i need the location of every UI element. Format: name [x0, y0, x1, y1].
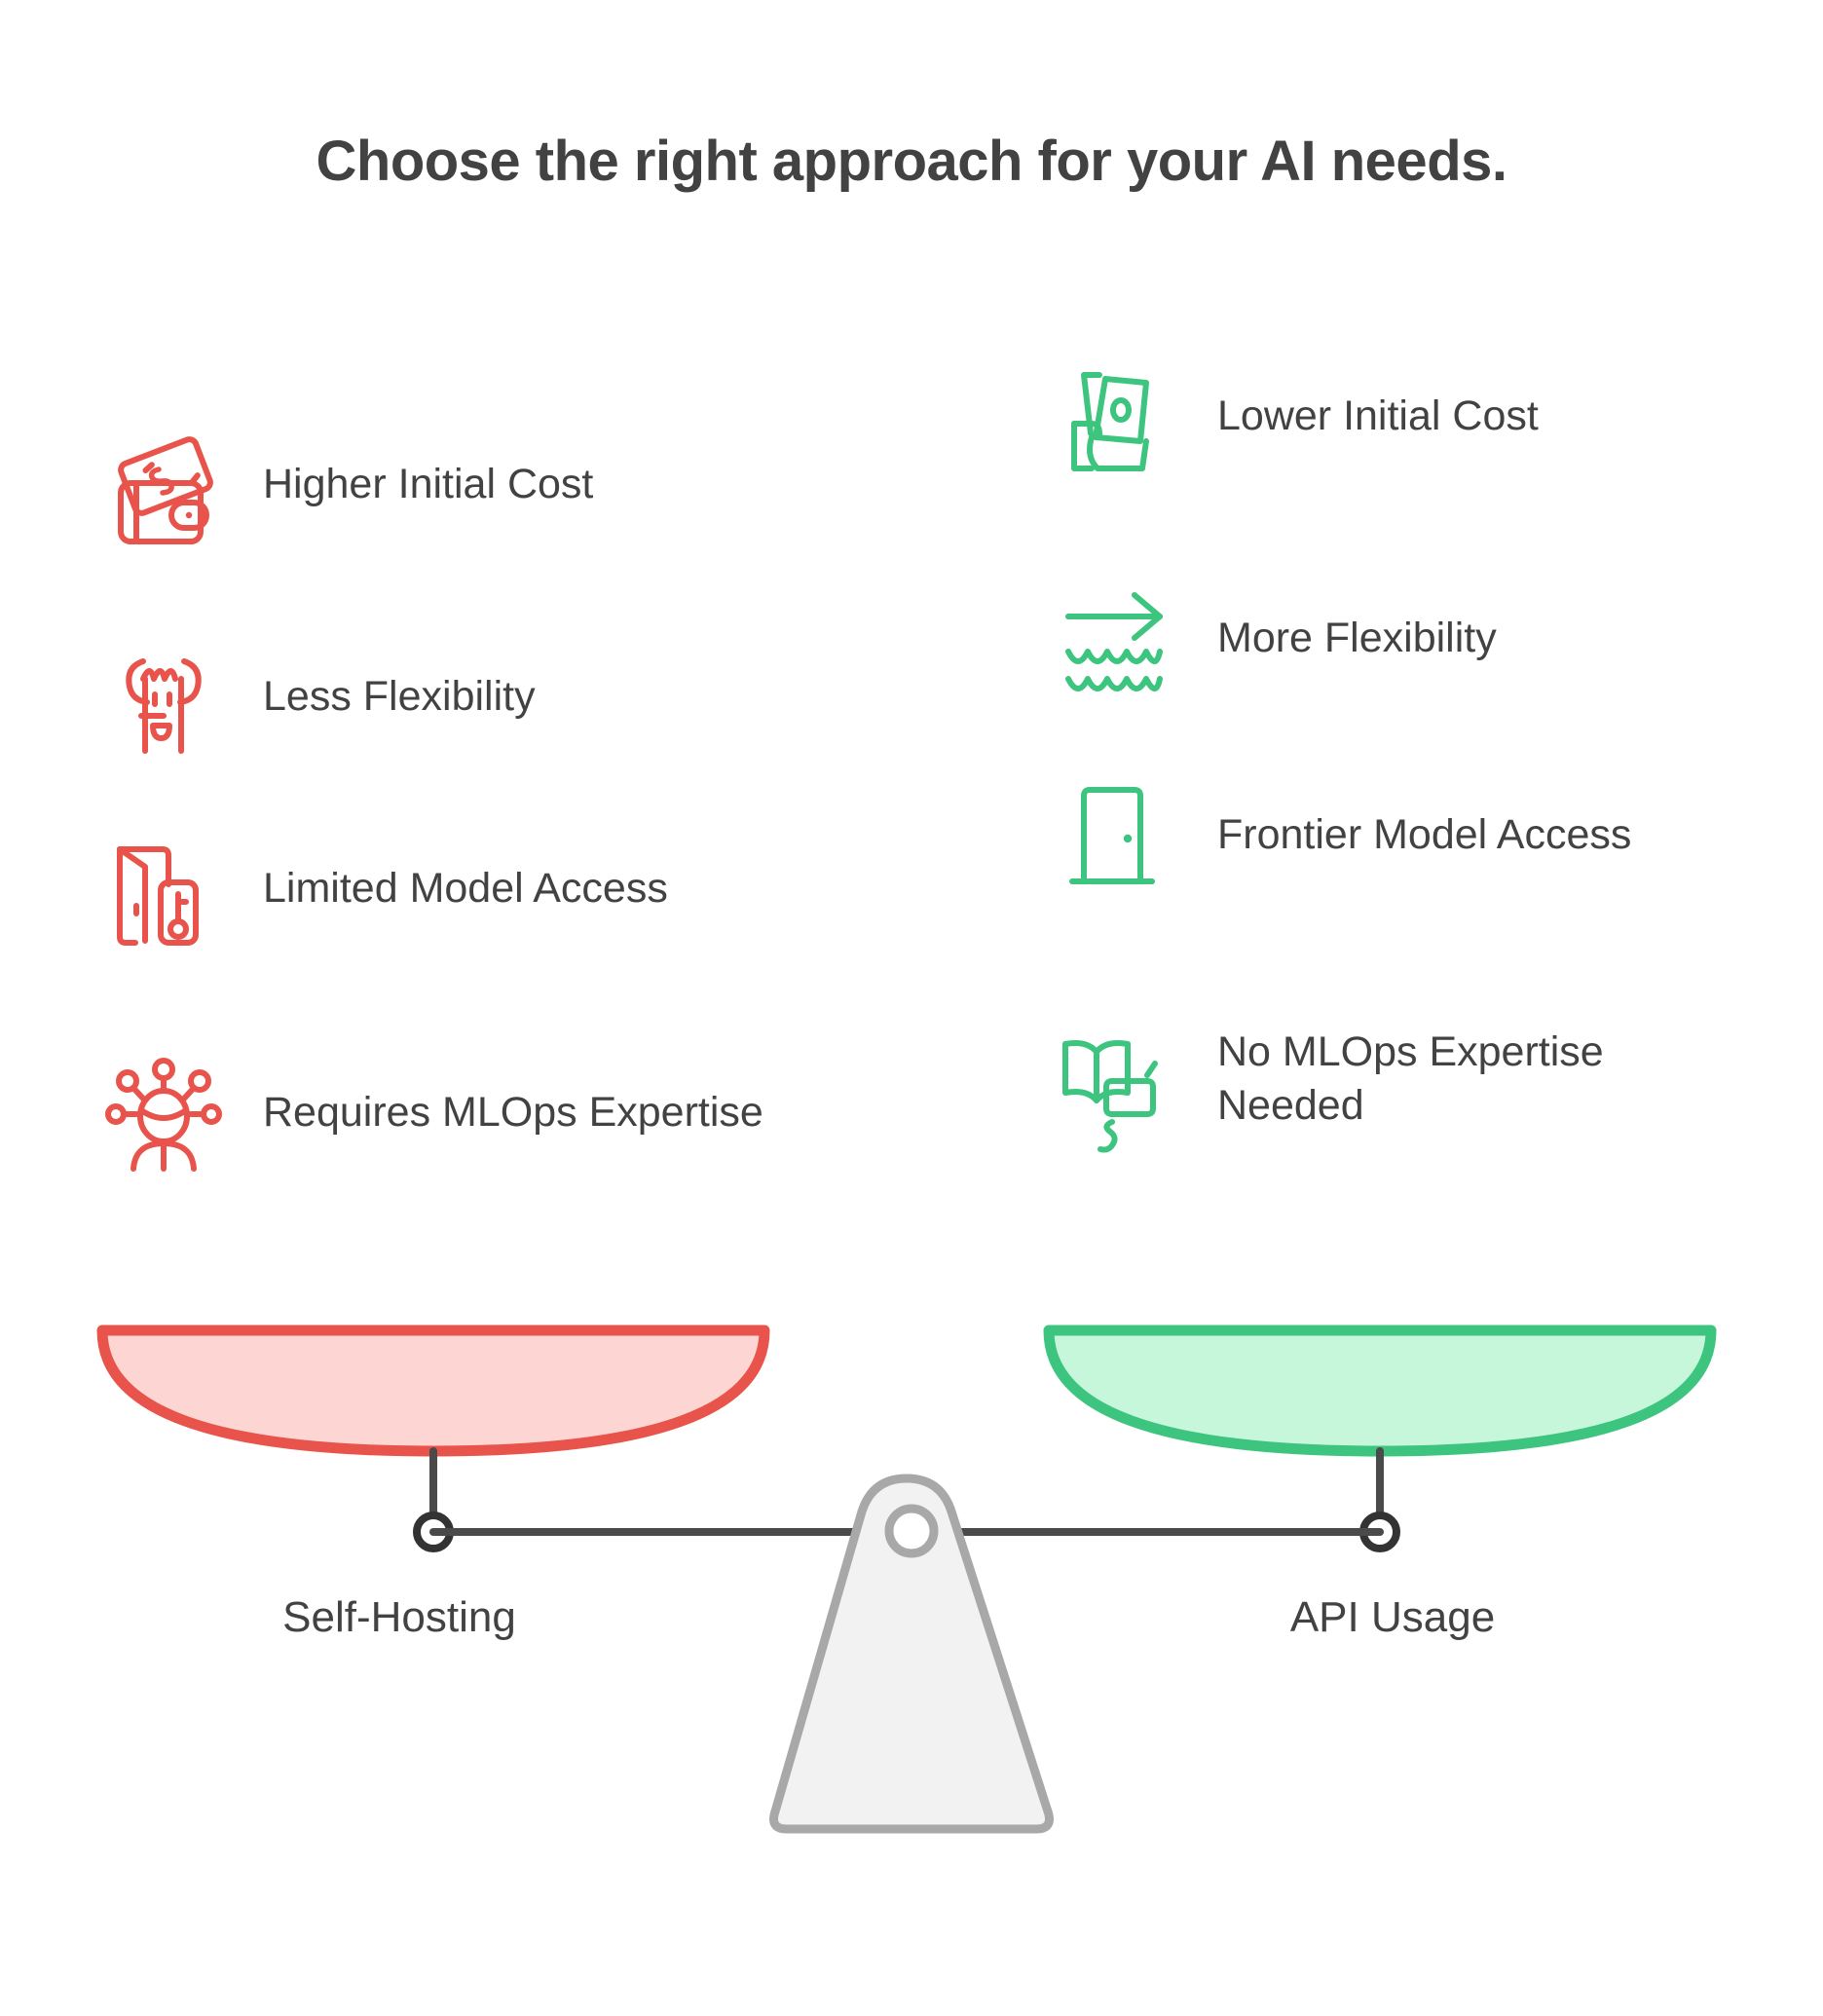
feature-item-more-flexibility: More Flexibility	[1052, 573, 1497, 705]
stiff-figure-icon	[97, 631, 230, 764]
pan-label-api-usage: API Usage	[1052, 1593, 1733, 1642]
scale-pan-right	[1049, 1330, 1711, 1451]
page-title: Choose the right approach for your AI ne…	[0, 129, 1823, 194]
feature-item-requires-mlops-expertise: Requires MLOps Expertise	[97, 1047, 763, 1179]
feature-label: Frontier Model Access	[1217, 808, 1631, 862]
feature-label: Requires MLOps Expertise	[263, 1086, 763, 1139]
hand-holding-cash-icon	[1052, 351, 1184, 483]
feature-item-less-flexibility: Less Flexibility	[97, 631, 536, 764]
door-locked-key-icon	[97, 823, 230, 955]
feature-label: No MLOps Expertise Needed	[1217, 1026, 1724, 1133]
feature-label: Less Flexibility	[263, 670, 536, 724]
feature-item-lower-initial-cost: Lower Initial Cost	[1052, 351, 1539, 483]
scale-pan-left	[102, 1330, 764, 1451]
open-door-icon	[1052, 769, 1184, 902]
book-screen-icon	[1052, 1013, 1184, 1145]
feature-label: Higher Initial Cost	[263, 458, 593, 511]
feature-label: Limited Model Access	[263, 862, 668, 915]
infographic-canvas: Choose the right approach for your AI ne…	[0, 0, 1823, 2016]
feature-item-higher-initial-cost: Higher Initial Cost	[97, 419, 593, 551]
scale-fulcrum	[774, 1478, 1050, 1829]
person-network-nodes-icon	[97, 1047, 230, 1179]
feature-item-frontier-model-access: Frontier Model Access	[1052, 769, 1631, 902]
wallet-cash-icon	[97, 419, 230, 551]
arrow-over-waves-icon	[1052, 573, 1184, 705]
feature-item-limited-model-access: Limited Model Access	[97, 823, 668, 955]
pan-label-self-hosting: Self-Hosting	[58, 1593, 740, 1642]
feature-label: More Flexibility	[1217, 612, 1497, 665]
balance-scale-graphic	[0, 0, 1823, 2016]
feature-item-no-mlops-expertise-needed: No MLOps Expertise Needed	[1052, 1013, 1724, 1145]
feature-label: Lower Initial Cost	[1217, 390, 1539, 443]
